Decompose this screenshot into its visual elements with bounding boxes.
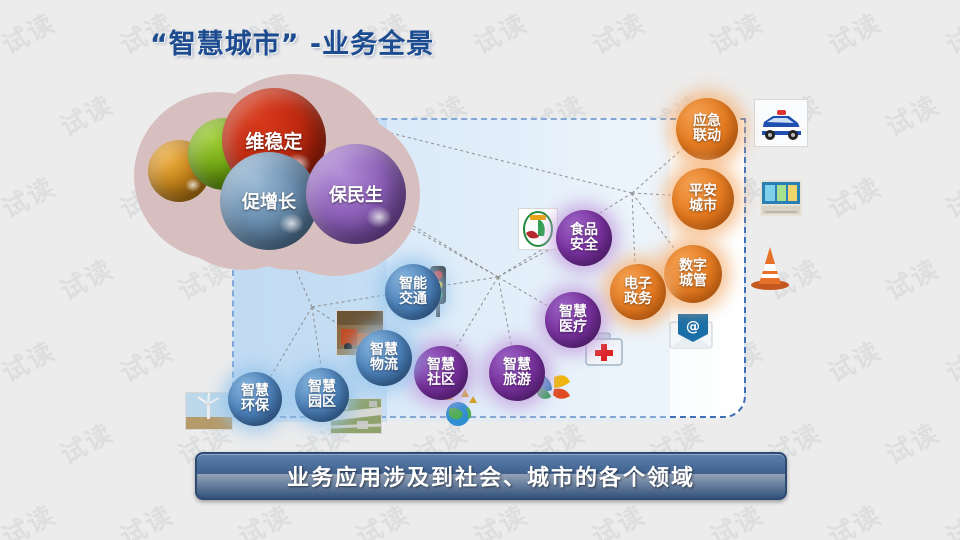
node-label-bottom: 物流 bbox=[370, 358, 398, 373]
node-label-top: 智慧 bbox=[308, 380, 336, 395]
summary-banner: 业务应用涉及到社会、城市的各个领域 bbox=[195, 452, 787, 500]
sphere-cuzengzhang[interactable]: 促增长 bbox=[220, 152, 318, 250]
node-label-bottom: 旅游 bbox=[503, 373, 531, 388]
node-label-top: 智慧 bbox=[503, 358, 531, 373]
traffic-cone-icon bbox=[748, 243, 792, 291]
node-label-top: 数字 bbox=[679, 259, 707, 274]
svg-text:@: @ bbox=[686, 319, 700, 335]
node-label-bottom: 政务 bbox=[624, 292, 652, 307]
wind-turbine-image bbox=[185, 392, 233, 430]
node-smart-park[interactable]: 智慧 园区 bbox=[295, 368, 349, 422]
node-label-top: 智慧 bbox=[559, 305, 587, 320]
node-label-bottom: 社区 bbox=[427, 373, 455, 388]
node-smart-tourism[interactable]: 智慧 旅游 bbox=[489, 345, 545, 401]
node-label-top: 应急 bbox=[693, 114, 721, 129]
node-safe-city[interactable]: 平安 城市 bbox=[672, 168, 734, 230]
node-label-top: 电子 bbox=[624, 277, 652, 292]
node-label-bottom: 医疗 bbox=[559, 320, 587, 335]
node-label-top: 食品 bbox=[570, 223, 598, 238]
surveillance-screen-image bbox=[760, 180, 802, 216]
node-label-top: 平安 bbox=[689, 184, 717, 199]
node-label-bottom: 城市 bbox=[689, 199, 717, 214]
node-label-top: 智慧 bbox=[241, 384, 269, 399]
node-label-bottom: 安全 bbox=[570, 238, 598, 253]
node-smart-environment[interactable]: 智慧 环保 bbox=[228, 372, 282, 426]
node-label-bottom: 城管 bbox=[679, 274, 707, 289]
node-label-top: 智慧 bbox=[427, 358, 455, 373]
node-smart-transportation[interactable]: 智能 交通 bbox=[385, 264, 441, 320]
sphere-cuzengzhang-label: 促增长 bbox=[242, 188, 296, 214]
node-label-top: 智慧 bbox=[370, 343, 398, 358]
police-car-image bbox=[754, 99, 808, 147]
node-label-bottom: 联动 bbox=[693, 129, 721, 144]
node-e-government[interactable]: 电子 政务 bbox=[610, 264, 666, 320]
node-label-bottom: 园区 bbox=[308, 395, 336, 410]
node-smart-community[interactable]: 智慧 社区 bbox=[414, 346, 468, 400]
node-label-bottom: 交通 bbox=[399, 292, 427, 307]
sphere-baominsheng-label: 保民生 bbox=[329, 181, 383, 207]
summary-banner-text: 业务应用涉及到社会、城市的各个领域 bbox=[287, 460, 695, 492]
node-emergency-response[interactable]: 应急 联动 bbox=[676, 98, 738, 160]
slide-canvas: “智慧城市” -业务全景 bbox=[0, 0, 960, 540]
food-safety-logo bbox=[518, 208, 558, 250]
node-smart-healthcare[interactable]: 智慧 医疗 bbox=[545, 292, 601, 348]
sphere-baominsheng[interactable]: 保民生 bbox=[306, 144, 406, 244]
sphere-weiwending-label: 维稳定 bbox=[245, 127, 302, 154]
node-food-safety[interactable]: 食品 安全 bbox=[556, 210, 612, 266]
node-digital-urban-management[interactable]: 数字 城管 bbox=[664, 245, 722, 303]
email-envelope-icon: @ bbox=[668, 312, 714, 350]
node-label-bottom: 环保 bbox=[241, 399, 269, 414]
node-label-top: 智能 bbox=[399, 277, 427, 292]
node-smart-logistics[interactable]: 智慧 物流 bbox=[356, 330, 412, 386]
